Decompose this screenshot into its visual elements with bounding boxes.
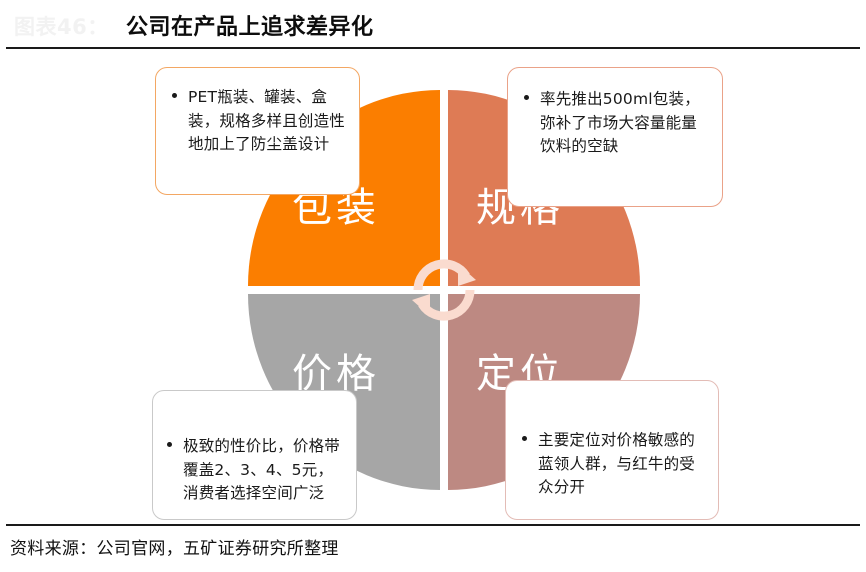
page-title: 图表46： 公司在产品上追求差异化 — [0, 8, 866, 44]
callout-positioning: 主要定位对价格敏感的蓝领人群，与红牛的受众分开 — [505, 380, 719, 520]
callout-text-row: 主要定位对价格敏感的蓝领人群，与红牛的受众分开 — [522, 429, 708, 500]
callout-text-specification: 率先推出500ml包装，弥补了市场大容量能量饮料的空缺 — [540, 90, 700, 155]
callout-text-positioning: 主要定位对价格敏感的蓝领人群，与红牛的受众分开 — [538, 431, 695, 496]
figure-title-label: 公司在产品上追求差异化 — [126, 9, 374, 41]
quadrant-label-price: 价格 — [292, 354, 380, 394]
figure-number-label: 图表46： — [14, 11, 109, 41]
diagram-stage: 包装 规格 价格 定位 — [0, 50, 866, 522]
callout-text-price: 极致的性价比，价格带覆盖2、3、4、5元，消费者选择空间广泛 — [183, 437, 340, 502]
source-note: 资料来源：公司官网，五矿证券研究所整理 — [10, 534, 339, 559]
callout-specification: 率先推出500ml包装，弥补了市场大容量能量饮料的空缺 — [507, 67, 723, 207]
callout-packaging: PET瓶装、罐装、盒装，规格多样且创造性地加上了防尘盖设计 — [155, 67, 360, 195]
callout-price: 极致的性价比，价格带覆盖2、3、4、5元，消费者选择空间广泛 — [152, 390, 357, 520]
title-divider-rule — [6, 47, 860, 49]
bullet-icon — [524, 95, 529, 100]
callout-text-row: 率先推出500ml包装，弥补了市场大容量能量饮料的空缺 — [524, 88, 712, 159]
callout-text-row: PET瓶装、罐装、盒装，规格多样且创造性地加上了防尘盖设计 — [172, 86, 347, 157]
figure-page: 图表46： 公司在产品上追求差异化 包装 规格 价格 定位 — [0, 0, 866, 572]
cycle-arrows-icon — [396, 242, 492, 338]
callout-text-row: 极致的性价比，价格带覆盖2、3、4、5元，消费者选择空间广泛 — [167, 435, 346, 506]
bullet-icon — [522, 436, 527, 441]
bullet-icon — [172, 93, 177, 98]
bullet-icon — [167, 442, 172, 447]
callout-text-packaging: PET瓶装、罐装、盒装，规格多样且创造性地加上了防尘盖设计 — [188, 88, 345, 153]
footer-divider-rule — [6, 524, 860, 526]
